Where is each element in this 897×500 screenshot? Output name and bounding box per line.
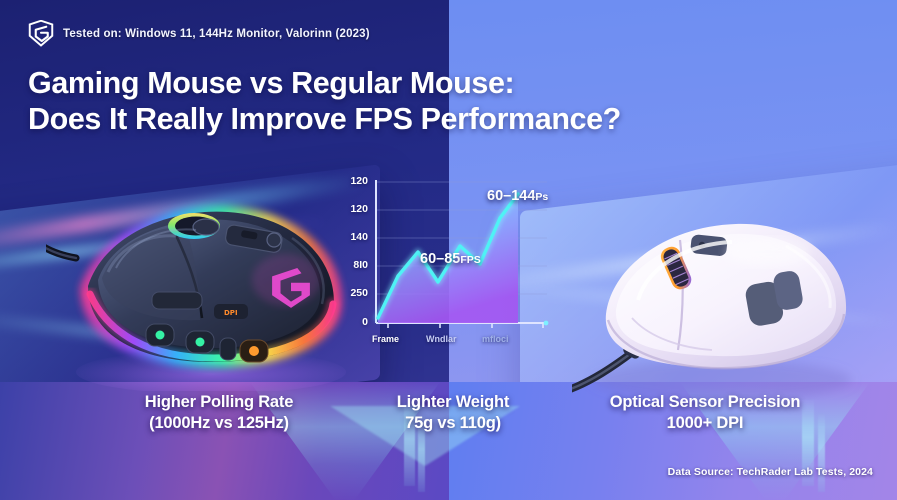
caption-line-1: Lighter Weight	[338, 392, 568, 413]
annotation-value: 60–144	[487, 188, 535, 204]
caption-line-2: (1000Hz vs 125Hz)	[64, 413, 374, 434]
chart-ytick-label: 140	[338, 231, 368, 243]
annotation-value: 60–85	[420, 251, 460, 267]
shield-chevron-logo-icon	[28, 20, 54, 47]
caption-line-2: 1000+ DPI	[560, 413, 850, 434]
caption-line-2: 75g vs 110g)	[338, 413, 568, 434]
chart-annotation-2: 60–144Ps	[487, 188, 548, 204]
chart-ytick-label: 8I0	[338, 259, 368, 271]
chart-ytick-label: 250	[338, 287, 368, 299]
chart-ytick-label: 120	[338, 175, 368, 187]
meta-row: Tested on: Windows 11, 144Hz Monitor, Va…	[28, 20, 621, 47]
header: Tested on: Windows 11, 144Hz Monitor, Va…	[28, 20, 621, 138]
infographic-root: DPI	[0, 0, 897, 500]
tested-on-text: Tested on: Windows 11, 144Hz Monitor, Va…	[63, 28, 370, 40]
annotation-unit: Ps	[535, 191, 548, 203]
caption-optical-sensor-precision: Optical Sensor Precision 1000+ DPI	[560, 392, 850, 434]
svg-text:DPI: DPI	[224, 309, 238, 317]
title-line-1: Gaming Mouse vs Regular Mouse:	[28, 66, 514, 100]
page-title: Gaming Mouse vs Regular Mouse: Does It R…	[28, 66, 621, 138]
chart-xtick-label: mfloci	[482, 334, 509, 344]
chart-xtick-label: Wndlar	[426, 334, 457, 344]
caption-line-1: Optical Sensor Precision	[560, 392, 850, 413]
caption-lighter-weight: Lighter Weight 75g vs 110g)	[338, 392, 568, 434]
caption-higher-polling-rate: Higher Polling Rate (1000Hz vs 125Hz)	[64, 392, 374, 434]
regular-mouse-white-image	[572, 190, 872, 400]
chart-annotation-1: 60–85FPS	[420, 251, 481, 267]
annotation-unit: FPS	[460, 254, 480, 266]
title-line-2: Does It Really Improve FPS Performance?	[28, 102, 621, 138]
data-source-footer: Data Source: TechRader Lab Tests, 2024	[668, 466, 873, 478]
chart-ytick-label: 0	[338, 316, 368, 328]
chart-ytick-label: 120	[338, 203, 368, 215]
chart-xtick-label: Frame	[372, 334, 399, 344]
caption-line-1: Higher Polling Rate	[64, 392, 374, 413]
gaming-mouse-black-image: DPI	[46, 176, 366, 391]
